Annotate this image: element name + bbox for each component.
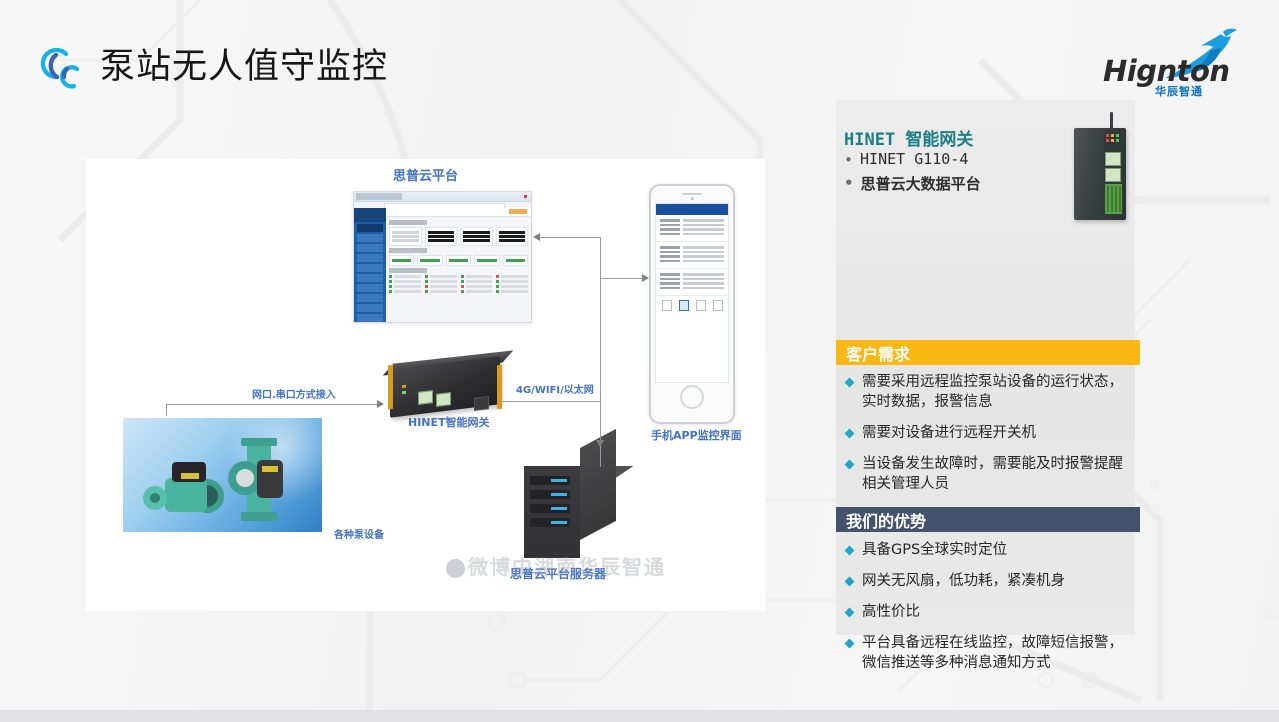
diamond-bullet-icon	[845, 608, 855, 618]
connector-wireless	[501, 401, 600, 402]
dashboard-card-row	[389, 227, 528, 246]
browser-chrome	[354, 192, 531, 202]
gateway-product-heading: HINET 智能网关	[844, 125, 973, 150]
sidebar-item	[357, 224, 383, 232]
sidebar-item	[357, 264, 383, 272]
dashboard-card	[474, 255, 499, 266]
mobile-app-mock	[649, 184, 735, 424]
server-front-face	[524, 466, 580, 558]
app-list-item	[656, 215, 728, 242]
gateway-caption: HINET智能网关	[408, 414, 490, 430]
dot-bullet-icon: •	[844, 173, 854, 193]
sidebar-logo	[354, 208, 386, 222]
dashboard-card	[417, 255, 442, 266]
dashboard-status-col	[389, 275, 421, 295]
dashboard-card	[389, 227, 422, 246]
dashboard-card	[425, 227, 458, 246]
gateway-product-block: HINET 智能网关 • HINET G110-4 • 思普云大数据平台	[836, 112, 1146, 224]
app-tabbar	[656, 296, 728, 311]
dashboard-status-col	[496, 275, 528, 295]
gateway-product-list: • HINET G110-4 • 思普云大数据平台	[844, 150, 981, 197]
pump-equipment-photo	[123, 418, 322, 532]
mobile-app-caption: 手机APP监控界面	[651, 427, 742, 443]
dot-bullet-icon: •	[844, 150, 853, 170]
connector-arrow-right-icon	[377, 400, 384, 408]
phone-home-button-icon	[680, 385, 704, 409]
app-tab	[713, 300, 723, 311]
customer-needs-list: 需要采用远程监控泵站设备的运行状态，实时数据，报警信息 需要对设备进行远程开关机…	[846, 372, 1136, 505]
gateway-device-illustration	[384, 357, 514, 419]
interlocking-circles-logo-icon	[36, 41, 90, 95]
browser-close-icon	[524, 195, 527, 198]
app-tab-active	[679, 300, 689, 311]
list-item: 高性价比	[846, 602, 1136, 622]
phone-screen	[655, 203, 729, 383]
gateway-serial-port-icon	[474, 396, 489, 411]
dashboard-card	[389, 255, 414, 266]
gateway-terminal-block	[1105, 184, 1122, 214]
connector-wired	[166, 404, 379, 405]
app-tab	[696, 300, 706, 311]
app-list-item	[656, 269, 728, 296]
corporate-logo: Hignton 华辰智通	[1103, 28, 1243, 100]
footer-strip	[0, 711, 1279, 722]
list-item: 需要采用远程监控泵站设备的运行状态，实时数据，报警信息	[846, 372, 1136, 412]
sidebar-item	[357, 294, 383, 302]
connector-arrow-left-icon	[533, 233, 540, 241]
diamond-bullet-icon	[845, 460, 855, 470]
corp-subtitle: 华辰智通	[1155, 83, 1203, 99]
dashboard-section-title	[389, 220, 427, 225]
gateway-mount-bracket	[388, 365, 393, 410]
phone-camera-icon	[691, 197, 694, 200]
gateway-ethernet-port-icon	[1105, 168, 1121, 182]
server-illustration	[524, 448, 616, 560]
dashboard-card	[503, 255, 528, 266]
dashboard-card-row	[389, 255, 528, 266]
dashboard-status-col	[461, 275, 493, 295]
diamond-bullet-icon	[845, 429, 855, 439]
cloud-platform-browser-mock	[353, 191, 532, 323]
gateway-led-icon	[402, 385, 406, 388]
list-item: • 思普云大数据平台	[844, 173, 981, 194]
app-list-item	[656, 242, 728, 269]
dashboard-card	[446, 255, 471, 266]
sidebar-item	[357, 304, 383, 312]
phone-speaker-icon	[682, 193, 702, 195]
sidebar-item	[357, 244, 383, 252]
diamond-bullet-icon	[845, 577, 855, 587]
connector-to-phone	[600, 278, 644, 279]
gateway-ethernet-port-icon	[1105, 152, 1121, 166]
gateway-ethernet-port-icon	[418, 390, 433, 405]
dashboard-status-col	[425, 275, 457, 295]
customer-needs-header: 客户需求	[836, 340, 1140, 365]
dashboard-section-title	[389, 268, 427, 273]
pump-icon	[223, 436, 295, 524]
sidebar-item	[357, 314, 383, 322]
sidebar-item	[357, 234, 383, 242]
app-tab	[662, 300, 672, 311]
connector-arrow-right-icon	[642, 274, 649, 282]
dashboard-sidebar	[354, 208, 386, 322]
advantages-header: 我们的优势	[836, 507, 1140, 532]
gateway-led-bank	[1106, 134, 1121, 144]
gateway-chassis	[1074, 128, 1126, 220]
list-item: 网关无风扇，低功耗，紧凑机身	[846, 571, 1136, 591]
list-item: 具备GPS全球实时定位	[846, 540, 1136, 560]
app-titlebar	[656, 204, 728, 215]
list-item: 平台具备远程在线监控，故障短信报警，微信推送等多种消息通知方式	[846, 633, 1136, 673]
dashboard-action-button	[509, 209, 527, 214]
diamond-bullet-icon	[845, 546, 855, 556]
connector-wired-label: 网口.串口方式接入	[252, 386, 336, 401]
diamond-bullet-icon	[845, 378, 855, 388]
list-item: 当设备发生故障时，需要能及时报警提醒相关管理人员	[846, 454, 1136, 494]
pump-caption: 各种泵设备	[334, 526, 384, 541]
dashboard-section-title	[389, 248, 427, 253]
connector-wired-drop	[166, 404, 167, 416]
page-title: 泵站无人值守监控	[100, 43, 388, 91]
connector-arrow-down-icon	[596, 440, 604, 447]
dashboard-status-row	[389, 275, 528, 295]
pump-icon	[141, 456, 227, 518]
gateway-ethernet-port-icon	[436, 392, 451, 407]
sidebar-item	[357, 274, 383, 282]
connector-to-cloud	[540, 237, 600, 238]
browser-viewport	[354, 208, 531, 322]
dashboard-main	[386, 208, 531, 322]
browser-tab	[356, 193, 402, 200]
architecture-diagram-card: 思普云平台	[86, 159, 765, 611]
connector-wireless-trunk	[600, 237, 601, 467]
diamond-bullet-icon	[845, 639, 855, 649]
sidebar-item	[357, 254, 383, 262]
weibo-icon	[446, 559, 465, 578]
sidebar-item	[357, 284, 383, 292]
gateway-led-icon	[402, 391, 406, 394]
dashboard-card	[460, 227, 493, 246]
connector-wireless-label: 4G/WIFI/以太网	[516, 381, 594, 396]
list-item: 需要对设备进行远程开关机	[846, 423, 1136, 443]
gateway-product-photo	[1066, 112, 1136, 224]
dashboard-card	[496, 227, 529, 246]
watermark-overlay: 微博中湖南华辰智通	[446, 551, 666, 580]
dashboard-topbar	[386, 208, 531, 217]
gateway-mount-bracket	[497, 365, 502, 410]
cloud-platform-title: 思普云平台	[393, 165, 458, 184]
list-item: • HINET G110-4	[844, 150, 981, 170]
advantages-list: 具备GPS全球实时定位 网关无风扇，低功耗，紧凑机身 高性价比 平台具备远程在线…	[846, 540, 1136, 684]
